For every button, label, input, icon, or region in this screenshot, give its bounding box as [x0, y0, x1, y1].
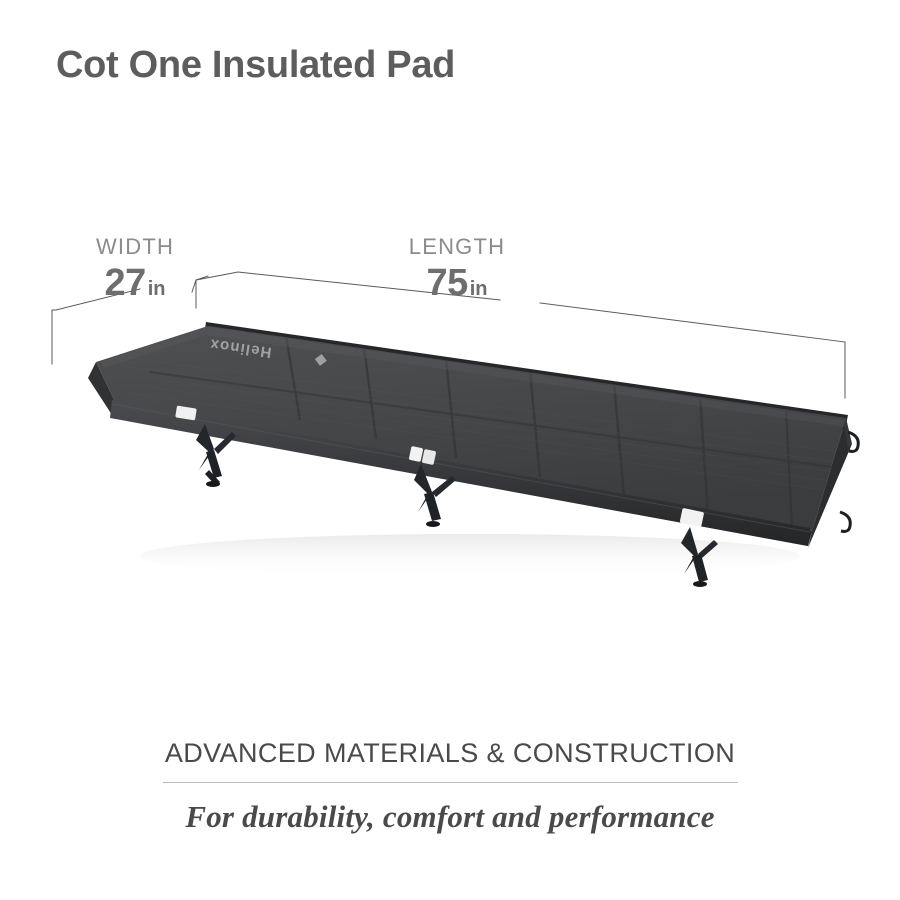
dimension-length: LENGTH 75in	[372, 236, 542, 302]
footer-block: ADVANCED MATERIALS & CONSTRUCTION For du…	[0, 738, 900, 835]
width-value: 27	[104, 262, 145, 304]
infographic-canvas: Cot One Insulated Pad	[0, 0, 900, 900]
footer-subheading: For durability, comfort and performance	[0, 799, 900, 835]
length-value: 75	[426, 262, 467, 304]
dimension-width: WIDTH 27in	[70, 236, 200, 302]
footer-heading: ADVANCED MATERIALS & CONSTRUCTION	[0, 738, 900, 769]
footer-divider	[163, 782, 738, 783]
width-caption: WIDTH	[70, 236, 200, 258]
length-caption: LENGTH	[372, 236, 542, 258]
length-value-row: 75in	[372, 264, 542, 302]
length-unit: in	[470, 278, 488, 300]
width-value-row: 27in	[70, 264, 200, 302]
width-unit: in	[148, 278, 166, 300]
